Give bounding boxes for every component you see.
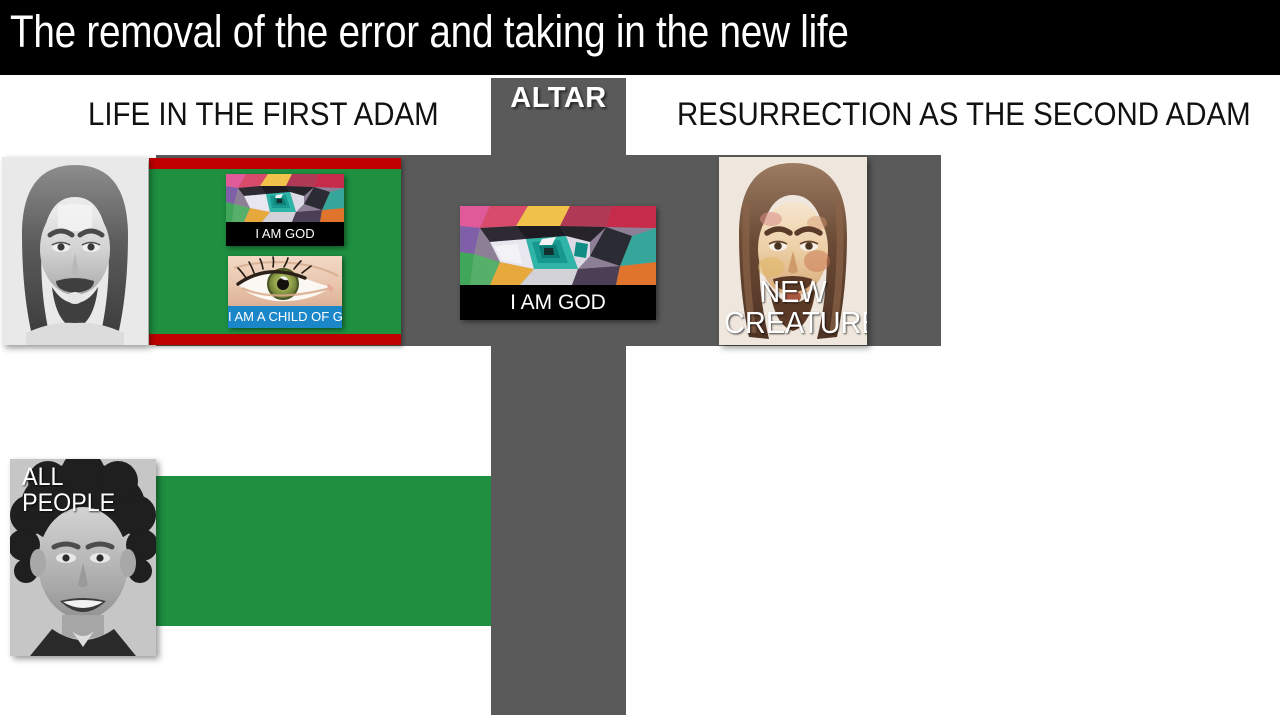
jesus-portrait-watercolor: NEW CREATURE (719, 157, 867, 345)
smiling-man-artwork (10, 459, 156, 656)
red-bar-bottom (149, 334, 401, 345)
human-eye-artwork (228, 256, 342, 306)
slide-title: The removal of the error and taking in t… (10, 6, 849, 58)
heading-resurrection-second-adam: RESURRECTION AS THE SECOND ADAM (677, 96, 1251, 133)
eye-card-i-am-a-child-of-god: I AM A CHILD OF GOD (228, 256, 342, 328)
green-panel-all-people (156, 476, 491, 626)
eye-card-i-am-god-small: I AM GOD (226, 174, 344, 246)
jesus-watercolor-artwork (719, 157, 867, 345)
eye-label-i-am-god-small: I AM GOD (226, 222, 344, 246)
heading-life-in-first-adam: LIFE IN THE FIRST ADAM (88, 96, 439, 133)
eye-card-i-am-god-large: I AM GOD (460, 206, 656, 320)
red-bar-top (149, 158, 401, 169)
jesus-grayscale-artwork (2, 157, 148, 345)
slide-canvas: The removal of the error and taking in t… (0, 0, 1280, 720)
eye-label-i-am-a-child-of-god: I AM A CHILD OF GOD (228, 306, 342, 328)
low-poly-eye-artwork-small (226, 174, 344, 222)
all-people-photo: ALL PEOPLE (10, 459, 156, 656)
altar-label: ALTAR (491, 82, 626, 115)
low-poly-eye-artwork-large (460, 206, 656, 285)
jesus-portrait-grayscale (2, 157, 148, 345)
cross-vertical-beam (491, 78, 626, 715)
title-bar: The removal of the error and taking in t… (0, 0, 1280, 75)
eye-label-i-am-god-large: I AM GOD (460, 285, 656, 320)
